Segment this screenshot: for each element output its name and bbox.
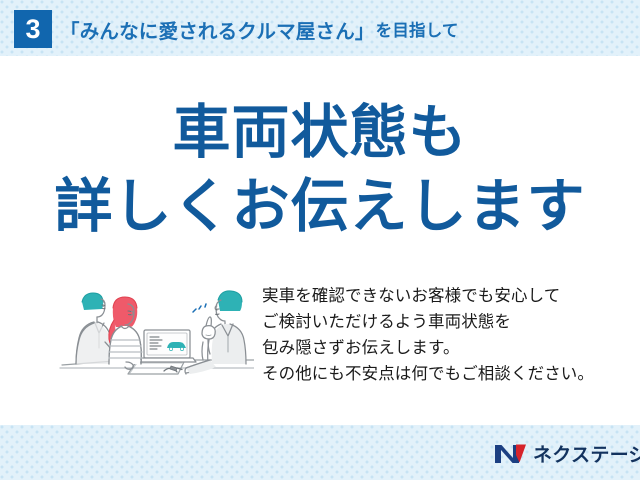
body-copy-line-2: ご検討いただけるよう車両状態を — [262, 309, 614, 335]
body-copy-line-4: その他にも不安点は何でもご相談ください。 — [262, 361, 614, 387]
header-title-sub: を目指して — [375, 17, 459, 41]
body-copy: 実車を確認できないお客様でも安心して ご検討いただけるよう車両状態を 包み隠さず… — [262, 283, 614, 387]
headline-line-2: 詳しくお伝えします — [0, 170, 640, 244]
step-number-badge: 3 — [14, 10, 52, 48]
header-title: 「みんなに愛されるクルマ屋さん」 を目指して — [60, 13, 459, 45]
nextage-n-mark-icon — [494, 441, 528, 465]
body-copy-line-3: 包み隠さずお伝えします。 — [262, 335, 614, 361]
body-copy-line-1: 実車を確認できないお客様でも安心して — [262, 283, 614, 309]
header-title-main: 「みんなに愛されるクルマ屋さん」 — [60, 15, 375, 44]
brand-name: ネクステージ — [528, 440, 640, 467]
headline: 車両状態も 詳しくお伝えします — [0, 96, 640, 244]
consultation-illustration — [58, 278, 254, 383]
promo-banner: 3 「みんなに愛されるクルマ屋さん」 を目指して 車両状態も 詳しくお伝えします — [0, 0, 640, 480]
headline-line-1: 車両状態も — [0, 96, 640, 170]
brand-logo: ネクステージ — [494, 440, 640, 466]
